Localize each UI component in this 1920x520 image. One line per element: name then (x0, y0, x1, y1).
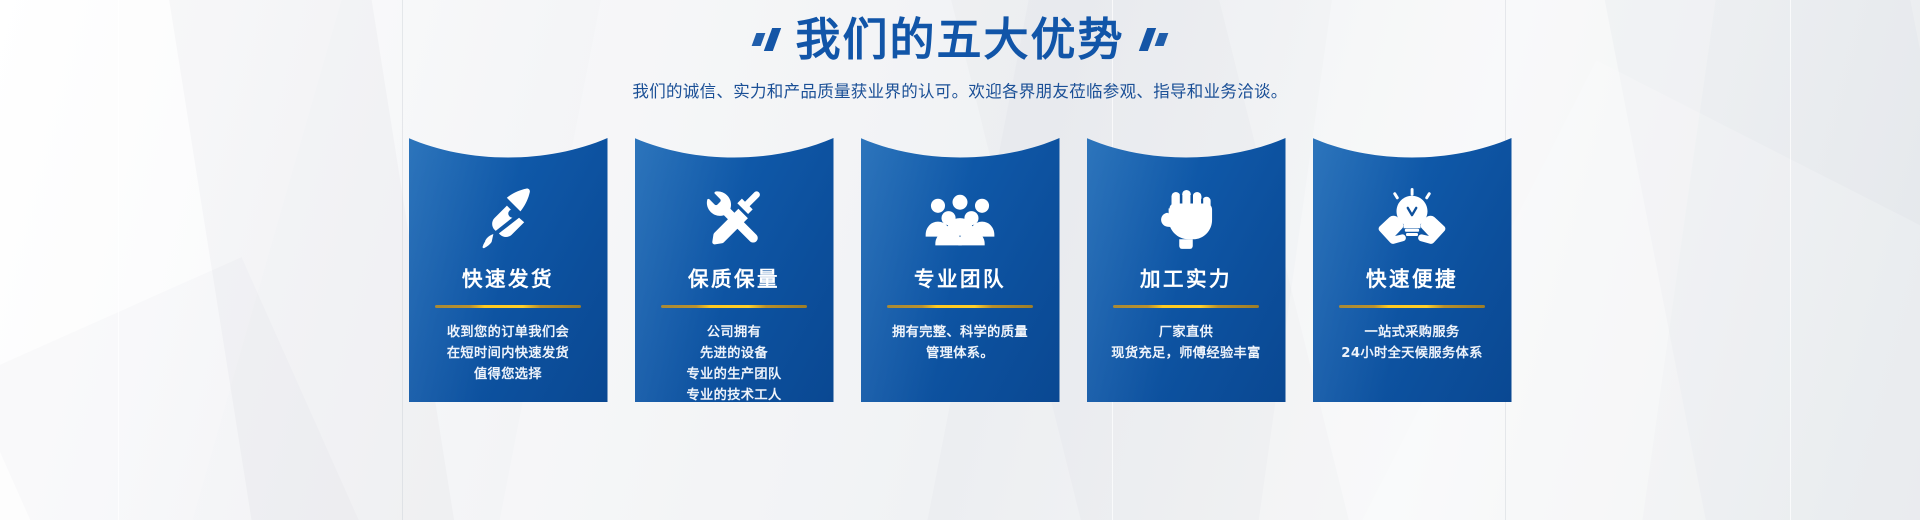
card-body: 一站式采购服务 24小时全天候服务体系 (1313, 322, 1512, 364)
fist-icon (1087, 182, 1286, 256)
card-divider (661, 305, 807, 308)
card-body-line: 值得您选择 (417, 364, 600, 385)
advantage-card-list: 快速发货 收到您的订单我们会 在短时间内快速发货 值得您选择 保质保量 公司拥有… (0, 138, 1920, 402)
card-title: 专业团队 (861, 262, 1060, 292)
card-body: 拥有完整、科学的质量 管理体系。 (861, 322, 1060, 364)
card-body-line: 公司拥有 (643, 322, 826, 343)
card-divider (1113, 305, 1259, 308)
card-title: 加工实力 (1087, 262, 1286, 292)
card-body-line: 24小时全天候服务体系 (1321, 343, 1504, 364)
card-body-line: 管理体系。 (869, 343, 1052, 364)
card-body-line: 专业的生产团队 (643, 364, 826, 385)
title-decoration-left-icon (754, 28, 777, 51)
advantage-card-2[interactable]: 保质保量 公司拥有 先进的设备 专业的生产团队 专业的技术工人 (635, 138, 834, 402)
page-subtitle: 我们的诚信、实力和产品质量获业界的认可。欢迎各界朋友莅临参观、指导和业务洽谈。 (0, 78, 1920, 102)
lightbulb-in-hands-icon (1313, 182, 1512, 256)
card-title: 快速便捷 (1313, 262, 1512, 292)
card-body: 收到您的订单我们会 在短时间内快速发货 值得您选择 (409, 322, 608, 385)
card-divider (1339, 305, 1485, 308)
card-title: 快速发货 (409, 262, 608, 292)
card-body-line: 拥有完整、科学的质量 (869, 322, 1052, 343)
card-body-line: 现货充足，师傅经验丰富 (1095, 343, 1278, 364)
title-row: 我们的五大优势 (0, 0, 1920, 62)
rocket-icon (409, 182, 608, 256)
card-divider (435, 305, 581, 308)
section-header: 我们的五大优势 我们的诚信、实力和产品质量获业界的认可。欢迎各界朋友莅临参观、指… (0, 0, 1920, 102)
card-body-line: 先进的设备 (643, 343, 826, 364)
advantage-card-5[interactable]: 快速便捷 一站式采购服务 24小时全天候服务体系 (1313, 138, 1512, 402)
card-body-line: 在短时间内快速发货 (417, 343, 600, 364)
people-group-icon (861, 182, 1060, 256)
wrench-screwdriver-icon (635, 182, 834, 256)
page-title: 我们的五大优势 (795, 17, 1124, 62)
card-body: 公司拥有 先进的设备 专业的生产团队 专业的技术工人 (635, 322, 834, 402)
card-body-line: 专业的技术工人 (643, 385, 826, 402)
card-body-line: 一站式采购服务 (1321, 322, 1504, 343)
card-body-line: 收到您的订单我们会 (417, 322, 600, 343)
card-body-line: 厂家直供 (1095, 322, 1278, 343)
card-title: 保质保量 (635, 262, 834, 292)
title-decoration-right-icon (1143, 28, 1166, 51)
advantage-card-4[interactable]: 加工实力 厂家直供 现货充足，师傅经验丰富 (1087, 138, 1286, 402)
advantage-card-3[interactable]: 专业团队 拥有完整、科学的质量 管理体系。 (861, 138, 1060, 402)
card-divider (887, 305, 1033, 308)
advantage-card-1[interactable]: 快速发货 收到您的订单我们会 在短时间内快速发货 值得您选择 (409, 138, 608, 402)
card-body: 厂家直供 现货充足，师傅经验丰富 (1087, 322, 1286, 364)
